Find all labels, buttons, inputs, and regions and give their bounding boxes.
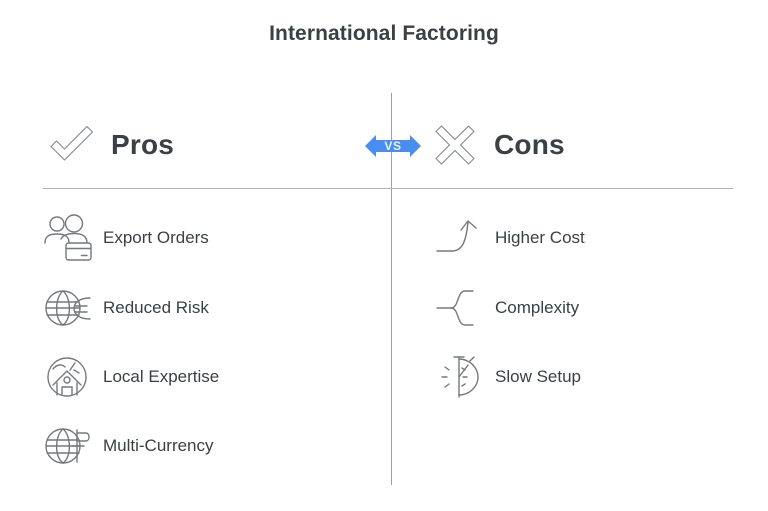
globe-euro-icon — [43, 282, 95, 334]
cross-outline-icon — [428, 118, 482, 172]
vs-badge-label: VS — [384, 139, 401, 153]
list-item[interactable]: Multi-Currency — [43, 418, 214, 474]
pros-header-label: Pros — [111, 129, 174, 161]
pros-header: Pros — [45, 115, 174, 175]
list-item[interactable]: Slow Setup — [435, 349, 581, 405]
rising-arrow-icon — [435, 212, 487, 264]
people-card-icon — [43, 212, 95, 264]
list-item-label: Slow Setup — [495, 367, 581, 387]
globe-pound-icon — [43, 420, 95, 472]
list-item[interactable]: Local Expertise — [43, 349, 219, 405]
list-item-label: Multi-Currency — [103, 436, 214, 456]
list-item-label: Export Orders — [103, 228, 209, 248]
list-item[interactable]: Reduced Risk — [43, 280, 209, 336]
list-item-label: Higher Cost — [495, 228, 585, 248]
vs-badge: VS — [365, 124, 421, 168]
cons-header-label: Cons — [494, 129, 565, 161]
list-item-label: Complexity — [495, 298, 579, 318]
half-clock-icon — [435, 351, 487, 403]
branch-fork-icon — [435, 282, 487, 334]
list-item[interactable]: Complexity — [435, 280, 579, 336]
list-item[interactable]: Export Orders — [43, 210, 209, 266]
page-title: International Factoring — [0, 22, 768, 46]
list-item-label: Local Expertise — [103, 367, 219, 387]
list-item-label: Reduced Risk — [103, 298, 209, 318]
globe-house-icon — [43, 351, 95, 403]
horizontal-divider — [43, 188, 733, 189]
cons-header: Cons — [428, 115, 565, 175]
check-outline-icon — [45, 118, 99, 172]
list-item[interactable]: Higher Cost — [435, 210, 585, 266]
